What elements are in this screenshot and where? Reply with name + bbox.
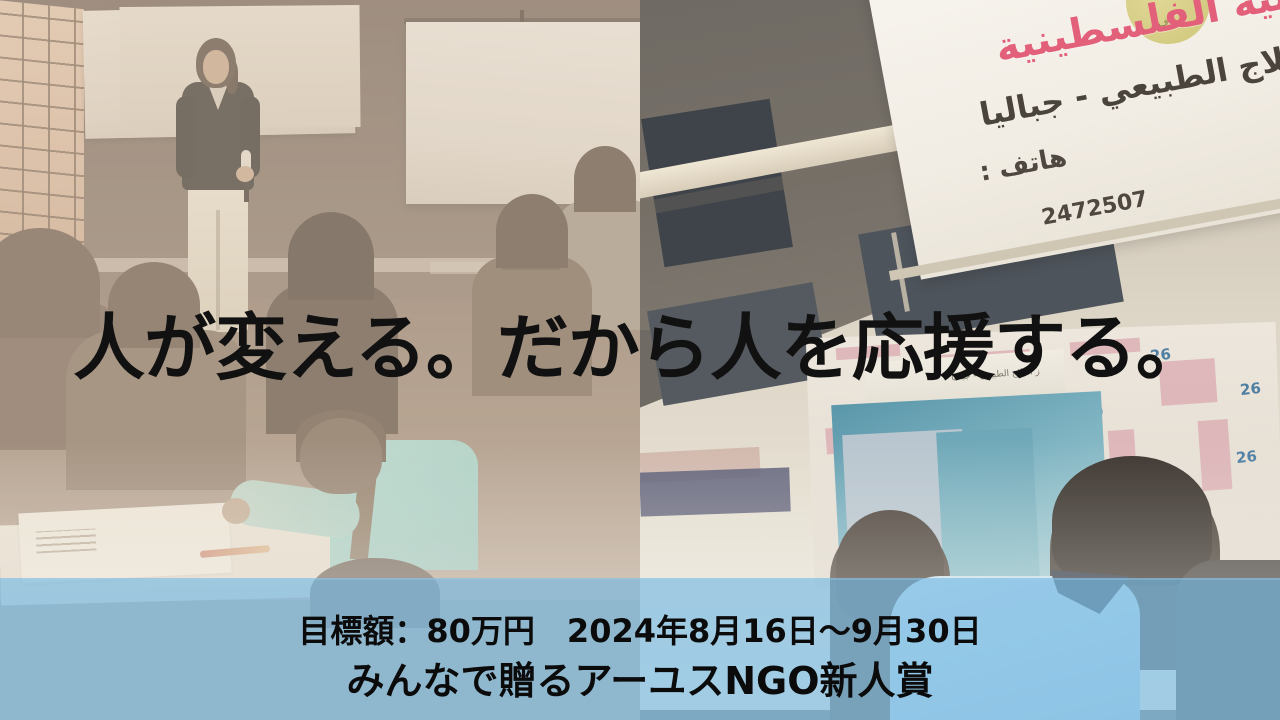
bottom-info-band: 目標額：80万円 2024年8月16日〜9月30日 みんなで贈るアーユスNGO新… (0, 578, 1280, 720)
award-title-text: みんなで贈るアーユスNGO新人賞 (0, 650, 1280, 705)
campaign-banner: د م ف الإغاثة الطبية الفلسطينية ز العلاج… (0, 0, 1280, 720)
bottom-fade-overlay (0, 440, 1280, 580)
goal-and-period-text: 目標額：80万円 2024年8月16日〜9月30日 (0, 606, 1280, 652)
banner-headline: 人が変える。だから人を応援する。 (0, 312, 1280, 384)
